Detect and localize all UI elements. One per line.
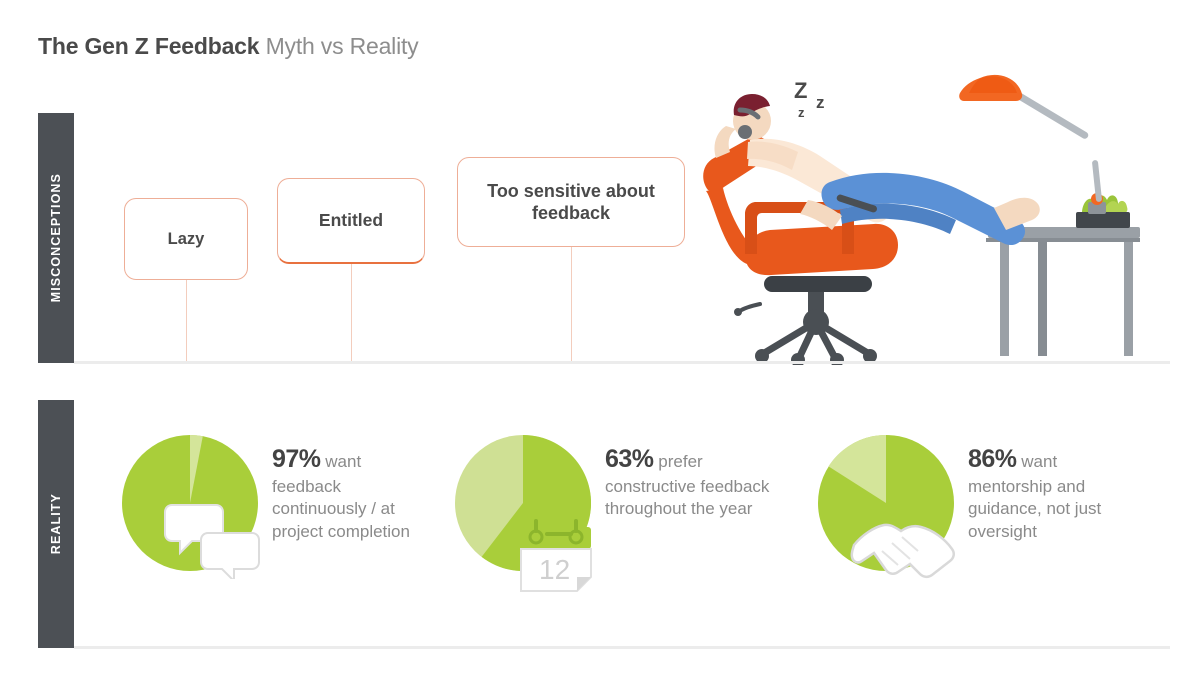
person-shape [714, 94, 1039, 245]
page-title-light: Myth vs Reality [266, 33, 419, 59]
pie-chart-86 [818, 435, 954, 571]
misconception-label: Lazy [168, 229, 205, 250]
calendar-day-label: 12 [539, 554, 570, 585]
handshake-icon [848, 507, 958, 585]
svg-text:z: z [816, 93, 825, 112]
stat-percent: 97% [272, 445, 321, 473]
misconception-label: Entitled [319, 210, 383, 232]
section-tab-reality: REALITY [38, 400, 74, 648]
misconception-box-entitled: Entitled [277, 178, 425, 264]
reality-stat-86: 86% want mentorship and guidance, not ju… [818, 435, 1128, 571]
sleeping-worker-at-desk-illustration: Z z z [690, 60, 1150, 365]
section-tab-reality-label: REALITY [49, 493, 63, 554]
connector-line [571, 247, 572, 362]
desk-lamp-shape [959, 75, 1106, 214]
zzz-sleep-icon: Z z z [794, 78, 825, 120]
misconception-box-lazy: Lazy [124, 198, 248, 280]
reality-stat-97-text: 97% want feedback continuously / at proj… [272, 435, 422, 543]
misconception-box-too-sensitive: Too sensitive about feedback [457, 157, 685, 247]
section-baseline-bottom [74, 646, 1170, 649]
infographic-page: The Gen Z Feedback Myth vs Reality MISCO… [0, 0, 1200, 685]
reality-stat-86-text: 86% want mentorship and guidance, not ju… [968, 435, 1128, 543]
reality-stat-63-text: 63% prefer constructive feedback through… [605, 435, 780, 521]
reality-stat-97: 97% want feedback continuously / at proj… [122, 435, 422, 571]
stat-percent: 63% [605, 445, 654, 473]
svg-text:Z: Z [794, 78, 807, 103]
connector-line [351, 264, 352, 362]
misconception-label: Too sensitive about feedback [466, 180, 676, 225]
svg-text:z: z [798, 105, 805, 120]
reality-stat-63: 12 63% prefer constructive feedback thro… [455, 435, 780, 571]
section-baseline-top [74, 361, 1170, 364]
stat-percent: 86% [968, 445, 1017, 473]
section-tab-misconceptions: MISCONCEPTIONS [38, 113, 74, 363]
page-title: The Gen Z Feedback Myth vs Reality [38, 33, 419, 60]
pie-chart-63: 12 [455, 435, 591, 571]
page-title-bold: The Gen Z Feedback [38, 33, 259, 59]
section-tab-misconceptions-label: MISCONCEPTIONS [49, 173, 63, 302]
calendar-icon: 12 [517, 515, 597, 593]
speech-bubbles-icon [164, 501, 264, 579]
pie-chart-97 [122, 435, 258, 571]
desk-shape [986, 227, 1140, 356]
connector-line [186, 280, 187, 362]
